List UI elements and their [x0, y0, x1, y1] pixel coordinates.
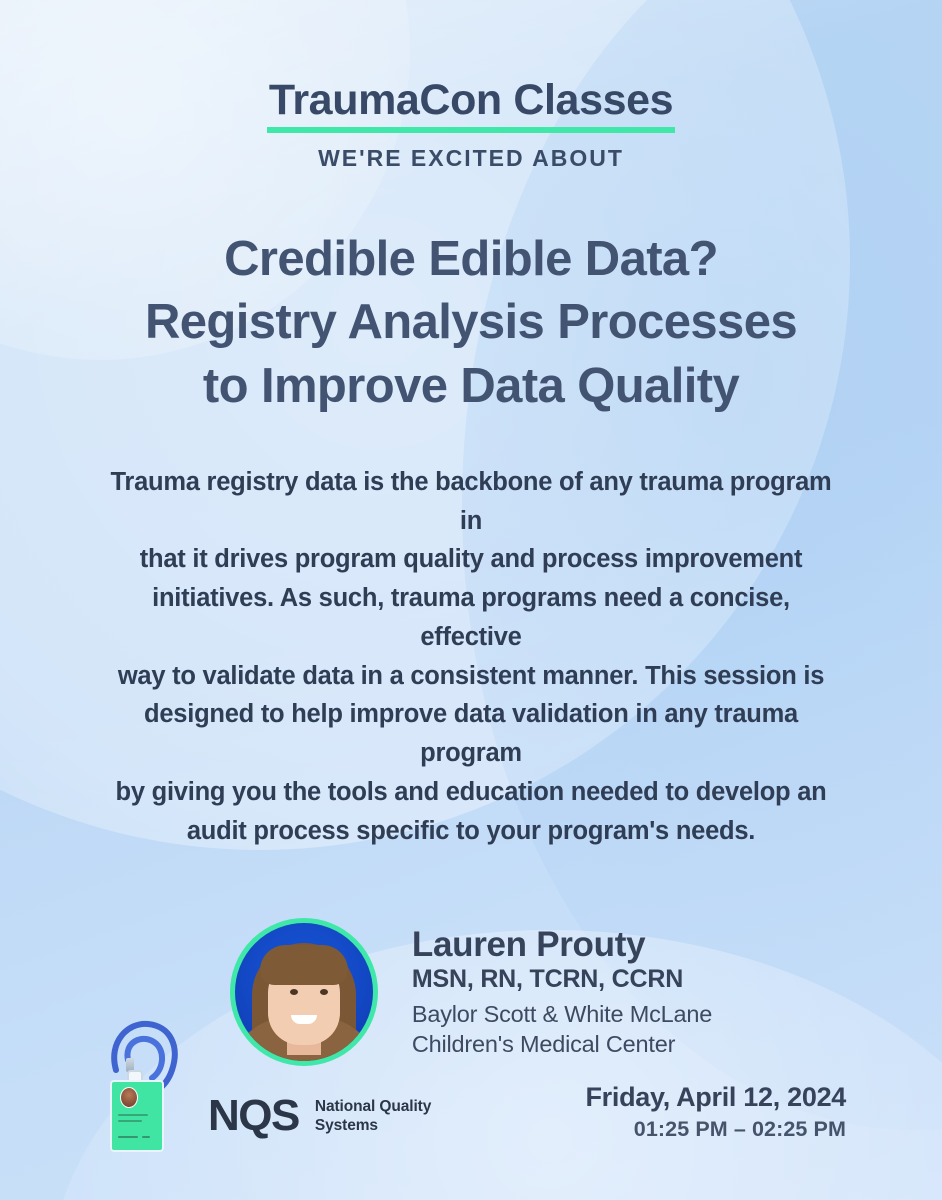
badge-text-line-1: [118, 1114, 148, 1116]
description-line-7: audit process specific to your program's…: [106, 812, 836, 851]
badge-card-icon: [110, 1080, 164, 1152]
kicker-title: TraumaCon Classes: [267, 78, 675, 123]
session-title-line-3: to Improve Data Quality: [70, 355, 872, 419]
kicker-underline: [267, 127, 675, 133]
schedule-date: Friday, April 12, 2024: [585, 1081, 846, 1113]
session-description: Trauma registry data is the backbone of …: [106, 463, 836, 851]
schedule-block: Friday, April 12, 2024 01:25 PM – 02:25 …: [585, 1081, 846, 1152]
poster-footer: NQS National Quality Systems Friday, Apr…: [0, 1012, 942, 1152]
description-line-1: Trauma registry data is the backbone of …: [106, 463, 836, 541]
session-promo-poster: TraumaCon Classes WE'RE EXCITED ABOUT Cr…: [0, 0, 942, 1200]
brand-tagline-line-1: National Quality: [315, 1097, 431, 1116]
schedule-time: 01:25 PM – 02:25 PM: [585, 1117, 846, 1142]
avatar-fringe: [260, 945, 348, 985]
description-line-2: that it drives program quality and proce…: [106, 540, 836, 579]
badge-text-line-2: [118, 1120, 142, 1122]
poster-header: TraumaCon Classes WE'RE EXCITED ABOUT: [0, 0, 942, 172]
brand-wordmark: NQS: [208, 1094, 299, 1138]
poster-content: TraumaCon Classes WE'RE EXCITED ABOUT Cr…: [0, 0, 942, 1200]
brand-tagline: National Quality Systems: [315, 1097, 431, 1135]
badge-text-line-4: [142, 1136, 150, 1138]
session-title: Credible Edible Data? Registry Analysis …: [0, 228, 942, 419]
badge-text-line-3: [118, 1136, 138, 1138]
kicker-block: TraumaCon Classes: [267, 78, 675, 133]
lanyard-badge-icon: [98, 1012, 194, 1152]
description-line-6: by giving you the tools and education ne…: [106, 773, 836, 812]
speaker-name: Lauren Prouty: [412, 925, 712, 964]
badge-photo-icon: [120, 1087, 138, 1108]
brand-logo: NQS National Quality Systems: [98, 1012, 431, 1152]
kicker-subtitle: WE'RE EXCITED ABOUT: [0, 145, 942, 172]
session-title-line-2: Registry Analysis Processes: [70, 291, 872, 355]
description-line-5: designed to help improve data validation…: [106, 695, 836, 773]
brand-tagline-line-2: Systems: [315, 1116, 431, 1135]
description-line-4: way to validate data in a consistent man…: [106, 657, 836, 696]
speaker-credentials: MSN, RN, TCRN, CCRN: [412, 965, 712, 994]
session-title-line-1: Credible Edible Data?: [70, 228, 872, 292]
description-line-3: initiatives. As such, trauma programs ne…: [106, 579, 836, 657]
brand-text: NQS National Quality Systems: [208, 1094, 431, 1152]
